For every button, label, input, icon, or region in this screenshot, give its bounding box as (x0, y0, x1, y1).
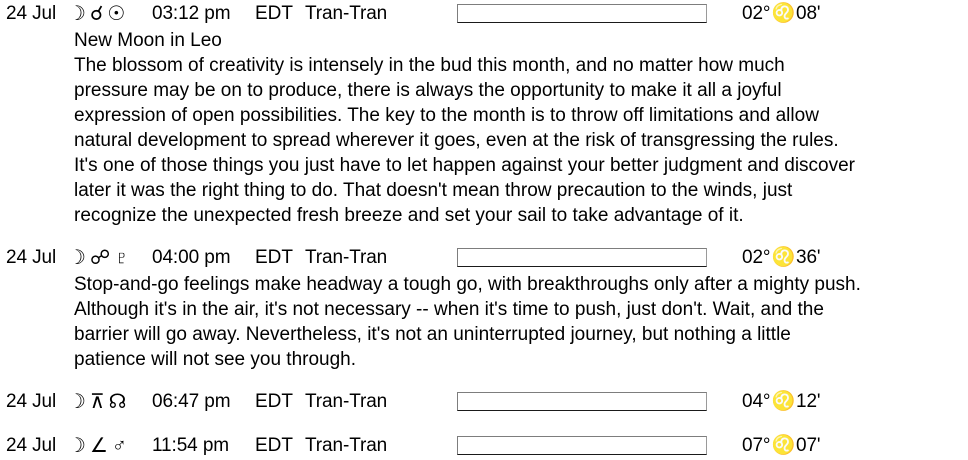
entry-spacer (0, 416, 968, 432)
mars-icon: ♂ (112, 432, 131, 460)
transit-entry: 24 Jul ☽☍♇ 04:00 pm EDT Tran-Tran 02°♌36… (0, 244, 968, 372)
position-degree: 07° (742, 435, 770, 456)
moon-icon: ☽ (68, 388, 90, 416)
astrology-transit-listing: 24 Jul ☽☌☉ 03:12 pm EDT Tran-Tran 02°♌08… (0, 0, 968, 460)
position-minute: 36' (796, 247, 820, 268)
transit-body: Stop-and-go feelings make headway a toug… (0, 272, 968, 372)
transit-body-line: The blossom of creativity is intensely i… (74, 53, 968, 78)
transit-position: 02°♌08' (742, 0, 820, 28)
transit-glyph-group: ☽☌☉ (68, 0, 129, 28)
orb-progress-bar (457, 4, 707, 23)
transit-header-row: 24 Jul ☽⊼☊ 06:47 pm EDT Tran-Tran 04°♌12… (0, 388, 968, 416)
transit-glyph-group: ☽∠♂ (68, 432, 131, 460)
entry-spacer (0, 228, 968, 244)
transit-time: 06:47 pm (152, 388, 230, 416)
transit-position: 07°♌07' (742, 432, 820, 460)
transit-timezone: EDT (255, 388, 293, 416)
transit-timezone: EDT (255, 0, 293, 28)
transit-subtitle: New Moon in Leo (74, 28, 968, 53)
transit-body: New Moon in Leo The blossom of creativit… (0, 28, 968, 228)
transit-position: 04°♌12' (742, 388, 820, 416)
sun-icon: ☉ (107, 0, 129, 28)
transit-aspect-type: Tran-Tran (305, 388, 387, 416)
transit-body-line: Although it's in the air, it's not neces… (74, 297, 968, 322)
moon-icon: ☽ (68, 432, 90, 460)
transit-body-line: expression of open possibilities. The ke… (74, 103, 968, 128)
transit-header-row: 24 Jul ☽☍♇ 04:00 pm EDT Tran-Tran 02°♌36… (0, 244, 968, 272)
transit-aspect-type: Tran-Tran (305, 432, 387, 460)
transit-body-line: recognize the unexpected fresh breeze an… (74, 203, 968, 228)
leo-sign-icon: ♌ (770, 391, 796, 412)
orb-progress-bar (457, 248, 707, 267)
transit-timezone: EDT (255, 244, 293, 272)
transit-entry: 24 Jul ☽∠♂ 11:54 pm EDT Tran-Tran 07°♌07… (0, 432, 968, 460)
position-minute: 08' (796, 3, 820, 24)
position-minute: 07' (796, 435, 820, 456)
position-minute: 12' (796, 391, 820, 412)
north-node-icon: ☊ (109, 388, 131, 416)
transit-position: 02°♌36' (742, 244, 820, 272)
moon-icon: ☽ (68, 244, 90, 272)
transit-header-row: 24 Jul ☽∠♂ 11:54 pm EDT Tran-Tran 07°♌07… (0, 432, 968, 460)
pluto-icon: ♇ (114, 244, 133, 272)
leo-sign-icon: ♌ (770, 435, 796, 456)
position-degree: 02° (742, 3, 770, 24)
leo-sign-icon: ♌ (770, 3, 796, 24)
transit-glyph-group: ☽☍♇ (68, 244, 133, 272)
transit-entry: 24 Jul ☽☌☉ 03:12 pm EDT Tran-Tran 02°♌08… (0, 0, 968, 228)
transit-date: 24 Jul (6, 388, 56, 416)
conjunction-aspect-icon: ☌ (90, 0, 107, 28)
entry-spacer (0, 372, 968, 388)
transit-body-line: It's one of those things you just have t… (74, 153, 968, 178)
orb-progress-bar (457, 436, 707, 455)
transit-time: 11:54 pm (152, 432, 229, 460)
transit-body-line: pressure may be on to produce, there is … (74, 78, 968, 103)
semisextile-aspect-icon: ∠ (90, 432, 112, 460)
transit-body-line: patience will not see you through. (74, 347, 968, 372)
transit-date: 24 Jul (6, 432, 56, 460)
opposition-aspect-icon: ☍ (90, 244, 114, 272)
transit-glyph-group: ☽⊼☊ (68, 388, 130, 416)
transit-date: 24 Jul (6, 0, 56, 28)
transit-time: 03:12 pm (152, 0, 230, 28)
transit-body-line: later it was the right thing to do. That… (74, 178, 968, 203)
position-degree: 02° (742, 247, 770, 268)
position-degree: 04° (742, 391, 770, 412)
transit-timezone: EDT (255, 432, 293, 460)
leo-sign-icon: ♌ (770, 247, 796, 268)
transit-date: 24 Jul (6, 244, 56, 272)
transit-entry: 24 Jul ☽⊼☊ 06:47 pm EDT Tran-Tran 04°♌12… (0, 388, 968, 416)
transit-body-line: barrier will go away. Nevertheless, it's… (74, 322, 968, 347)
quincunx-aspect-icon: ⊼ (90, 388, 109, 416)
orb-progress-bar (457, 392, 707, 411)
moon-icon: ☽ (68, 0, 90, 28)
transit-time: 04:00 pm (152, 244, 230, 272)
transit-aspect-type: Tran-Tran (305, 0, 387, 28)
transit-aspect-type: Tran-Tran (305, 244, 387, 272)
transit-body-line: Stop-and-go feelings make headway a toug… (74, 272, 968, 297)
transit-header-row: 24 Jul ☽☌☉ 03:12 pm EDT Tran-Tran 02°♌08… (0, 0, 968, 28)
transit-body-line: natural development to spread wherever i… (74, 128, 968, 153)
